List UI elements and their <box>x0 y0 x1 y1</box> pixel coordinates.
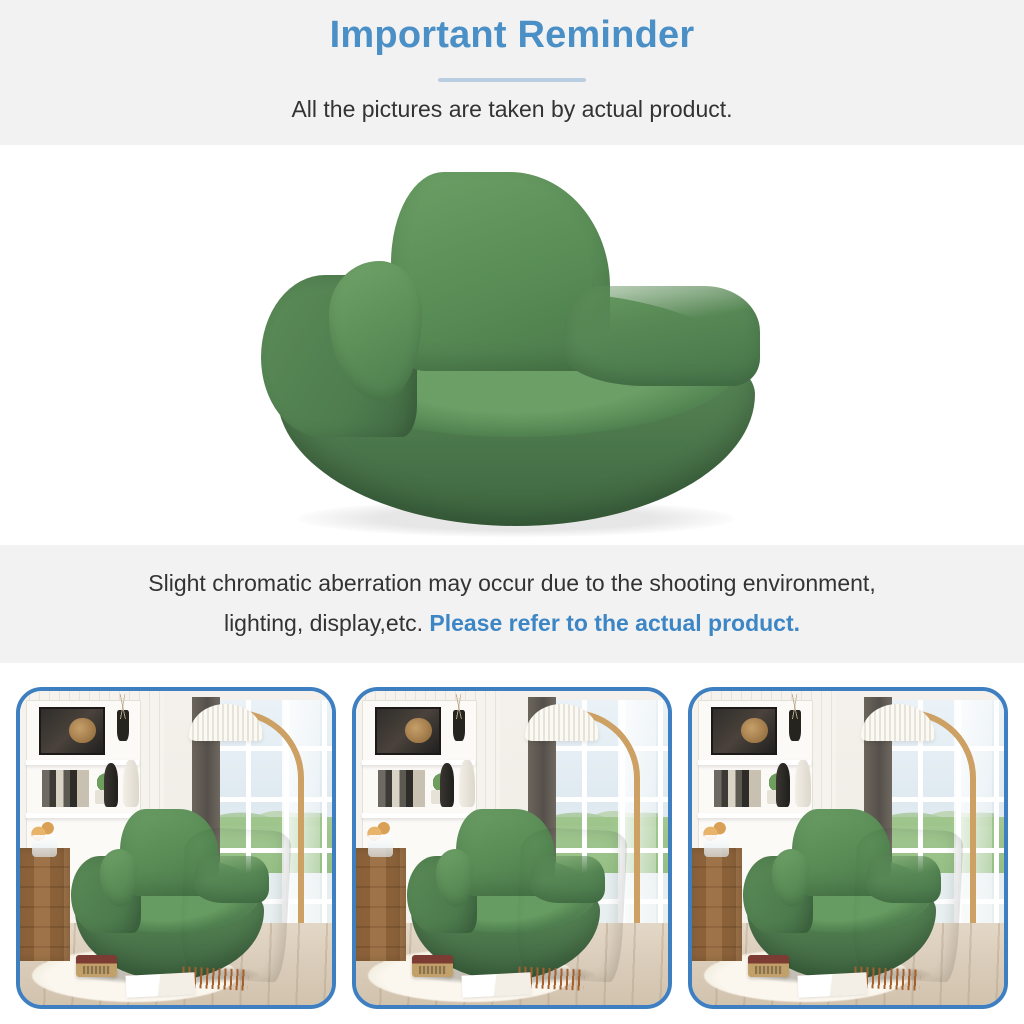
thumbnail-2[interactable] <box>352 687 672 1009</box>
scene-wood-side-cabinet <box>692 848 742 961</box>
scene-glass-tumbler <box>704 835 729 857</box>
page-title: Important Reminder <box>0 14 1024 57</box>
scene-glass-tumbler <box>32 835 57 857</box>
scene-vintage-radio <box>76 955 117 977</box>
scene-wood-side-cabinet <box>356 848 406 961</box>
product-chair-illustration <box>256 165 776 533</box>
room-scene <box>692 691 1004 1005</box>
room-scene <box>20 691 332 1005</box>
scene-dried-stems <box>107 694 138 719</box>
disclaimer-text: Slight chromatic aberration may occur du… <box>50 563 974 643</box>
scene-glass-tumbler <box>368 835 393 857</box>
thumbnail-1-image <box>20 691 332 1005</box>
disclaimer-line-2-plain: lighting, display,etc. <box>224 610 429 636</box>
room-scene <box>356 691 668 1005</box>
disclaimer-band: Slight chromatic aberration may occur du… <box>0 545 1024 663</box>
chair-side-bolster-pillow <box>563 286 761 385</box>
scene-throw-blanket <box>850 826 964 982</box>
scene-open-magazine <box>126 972 196 998</box>
scene-shelf-upper <box>362 760 474 765</box>
scene-shelf-upper <box>26 760 138 765</box>
thumbnail-3-image <box>692 691 1004 1005</box>
thumbnail-band <box>0 663 1024 1024</box>
header-band: Important Reminder All the pictures are … <box>0 0 1024 145</box>
scene-open-magazine <box>798 972 868 998</box>
disclaimer-line-1: Slight chromatic aberration may occur du… <box>148 570 875 596</box>
thumbnail-row <box>16 687 1008 1009</box>
scene-dried-stems <box>443 694 474 719</box>
disclaimer-highlight: Please refer to the actual product. <box>429 610 800 636</box>
thumbnail-3[interactable] <box>688 687 1008 1009</box>
scene-wood-side-cabinet <box>20 848 70 961</box>
thumbnail-2-image <box>356 691 668 1005</box>
scene-open-magazine <box>462 972 532 998</box>
thumbnail-1[interactable] <box>16 687 336 1009</box>
hero-product-image <box>0 145 1024 545</box>
page-subtitle: All the pictures are taken by actual pro… <box>0 96 1024 123</box>
scene-record-art-frame <box>39 707 105 755</box>
scene-record-art-frame <box>375 707 441 755</box>
title-divider <box>438 78 586 82</box>
scene-throw-blanket <box>178 826 292 982</box>
scene-vintage-radio <box>748 955 789 977</box>
scene-shelf-upper <box>698 760 810 765</box>
scene-record-art-frame <box>711 707 777 755</box>
product-listing-page: Important Reminder All the pictures are … <box>0 0 1024 1024</box>
scene-vintage-radio <box>412 955 453 977</box>
scene-throw-blanket <box>514 826 628 982</box>
scene-dried-stems <box>779 694 810 719</box>
hero-band <box>0 145 1024 545</box>
